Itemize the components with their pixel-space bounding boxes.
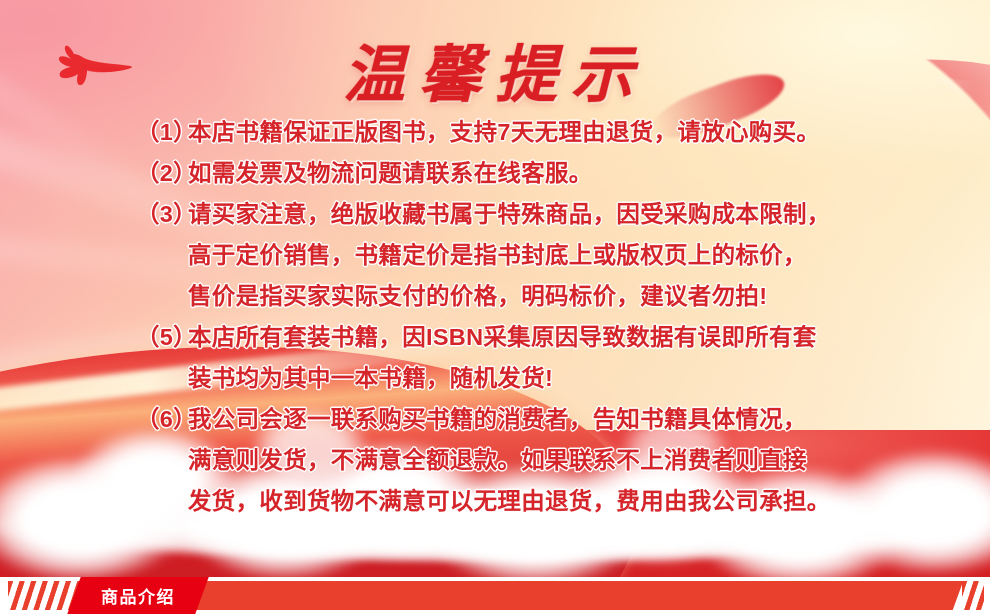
- section-bar-fill: [92, 581, 972, 610]
- notice-line: 发货，收到货物不满意可以无理由退货，费用由我公司承担。: [188, 481, 896, 522]
- notice-item: （6） 我公司会逐一联系购买书籍的消费者，告知书籍具体情况， 满意则发货，不满意…: [136, 399, 896, 522]
- notice-banner: 温馨提示 （1） 本店书籍保证正版图书，支持7天无理由退货，请放心购买。 （2）…: [0, 0, 990, 577]
- promo-banner-page: 温馨提示 （1） 本店书籍保证正版图书，支持7天无理由退货，请放心购买。 （2）…: [0, 0, 990, 614]
- notice-line: 满意则发货，不满意全额退款。如果联系不上消费者则直接: [188, 440, 896, 481]
- notice-line: 高于定价销售，书籍定价是指书封底上或版权页上的标价，: [188, 235, 896, 276]
- notice-body: 我公司会逐一联系购买书籍的消费者，告知书籍具体情况， 满意则发货，不满意全额退款…: [188, 399, 896, 522]
- notice-number: （3）: [136, 194, 188, 235]
- notice-number: （5）: [136, 317, 188, 358]
- notice-item: （1） 本店书籍保证正版图书，支持7天无理由退货，请放心购买。: [136, 112, 896, 153]
- notice-line: 如需发票及物流问题请联系在线客服。: [188, 153, 896, 194]
- notice-body: 本店书籍保证正版图书，支持7天无理由退货，请放心购买。: [188, 112, 896, 153]
- page-title: 温馨提示: [0, 24, 990, 114]
- notice-body: 请买家注意，绝版收藏书属于特殊商品，因受采购成本限制， 高于定价销售，书籍定价是…: [188, 194, 896, 317]
- notice-line: 装书均为其中一本书籍，随机发货!: [188, 358, 896, 399]
- notice-item: （3） 请买家注意，绝版收藏书属于特殊商品，因受采购成本限制， 高于定价销售，书…: [136, 194, 896, 317]
- notice-number: （1）: [136, 112, 188, 153]
- section-tab-label[interactable]: 商品介绍: [74, 577, 202, 614]
- notice-body: 如需发票及物流问题请联系在线客服。: [188, 153, 896, 194]
- notice-line: 本店书籍保证正版图书，支持7天无理由退货，请放心购买。: [188, 112, 896, 153]
- notice-item: （5） 本店所有套装书籍，因ISBN采集原因导致数据有误即所有套 装书均为其中一…: [136, 317, 896, 399]
- notice-list: （1） 本店书籍保证正版图书，支持7天无理由退货，请放心购买。 （2） 如需发票…: [136, 112, 896, 522]
- notice-number: （2）: [136, 153, 188, 194]
- notice-line: 本店所有套装书籍，因ISBN采集原因导致数据有误即所有套: [188, 317, 896, 358]
- notice-line: 请买家注意，绝版收藏书属于特殊商品，因受采购成本限制，: [188, 194, 896, 235]
- notice-body: 本店所有套装书籍，因ISBN采集原因导致数据有误即所有套 装书均为其中一本书籍，…: [188, 317, 896, 399]
- notice-line: 售价是指买家实际支付的价格，明码标价，建议者勿拍!: [188, 276, 896, 317]
- notice-number: （6）: [136, 399, 188, 440]
- notice-item: （2） 如需发票及物流问题请联系在线客服。: [136, 153, 896, 194]
- stripe-decoration-right: [962, 581, 984, 610]
- section-header-bar: 商品介绍: [0, 577, 990, 614]
- notice-line: 我公司会逐一联系购买书籍的消费者，告知书籍具体情况，: [188, 399, 896, 440]
